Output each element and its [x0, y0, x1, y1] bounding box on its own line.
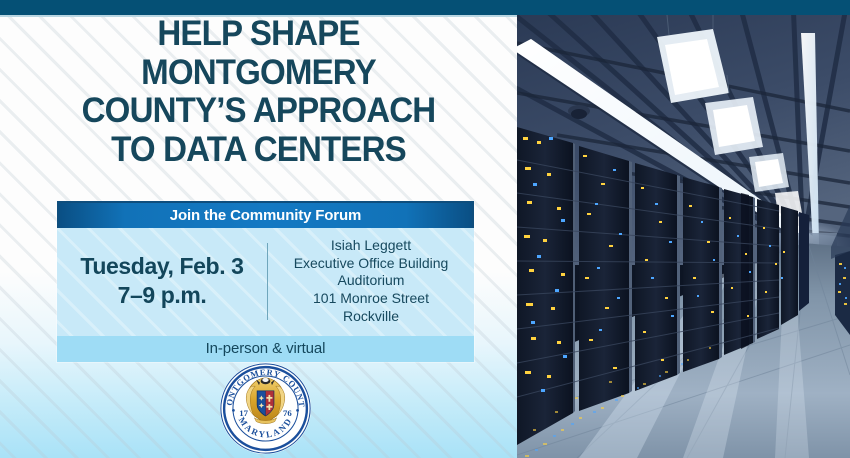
event-time: 7–9 p.m. [57, 281, 267, 310]
venue-line-3: Auditorium [276, 272, 466, 290]
seal-year-left: 17 [239, 408, 248, 418]
headline-line-1: HELP SHAPE [14, 15, 503, 54]
headline-line-3: COUNTY’S APPROACH [14, 92, 503, 131]
headline-line-2: MONTGOMERY [14, 54, 503, 93]
seal-year-right: 76 [283, 408, 292, 418]
headline-line-4: TO DATA CENTERS [14, 131, 503, 170]
page-title: HELP SHAPE MONTGOMERY COUNTY’S APPROACH … [14, 15, 503, 170]
attendance-mode-label: In-person & virtual [206, 340, 326, 357]
venue-line-2: Executive Office Building [276, 255, 466, 273]
data-center-photo [517, 15, 850, 458]
poster-graphic: HELP SHAPE MONTGOMERY COUNTY’S APPROACH … [0, 0, 850, 458]
venue-line-1: Isiah Leggett [276, 237, 466, 255]
attendance-mode-strip: In-person & virtual [57, 336, 474, 362]
event-location: Isiah Leggett Executive Office Building … [268, 237, 474, 326]
forum-banner-label: Join the Community Forum [170, 207, 361, 224]
top-accent-hairline [0, 15, 517, 17]
event-datetime: Tuesday, Feb. 3 7–9 p.m. [57, 252, 267, 311]
venue-line-4: 101 Monroe Street [276, 290, 466, 308]
montgomery-county-seal-icon: MONTGOMERY COUNTY MARYLAND 17 76 [219, 362, 312, 455]
event-details-body: Tuesday, Feb. 3 7–9 p.m. Isiah Leggett E… [57, 228, 474, 336]
event-date: Tuesday, Feb. 3 [57, 252, 267, 281]
top-accent-bar [0, 0, 850, 15]
forum-banner: Join the Community Forum [57, 201, 474, 228]
event-details-card: Join the Community Forum Tuesday, Feb. 3… [57, 201, 474, 362]
venue-line-5: Rockville [276, 308, 466, 326]
